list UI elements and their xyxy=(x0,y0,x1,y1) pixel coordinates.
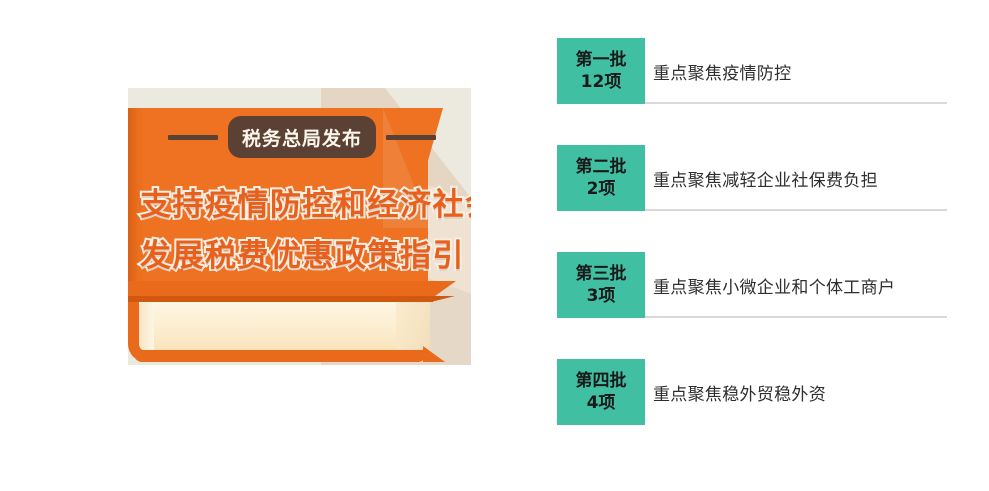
decorative-dash-right xyxy=(386,135,436,140)
book-board-top-shadow-slant xyxy=(431,296,455,302)
poster-headline-line-1: 支持疫情防控和经济社会 xyxy=(140,179,460,224)
row-divider xyxy=(645,209,947,211)
issuer-banner: 税务总局发布 xyxy=(228,116,376,158)
list-item[interactable]: 第四批 4项 重点聚焦稳外贸稳外资 xyxy=(557,359,957,466)
batch-name: 第三批 xyxy=(576,263,627,285)
list-item[interactable]: 第一批 12项 重点聚焦疫情防控 xyxy=(557,38,957,145)
decorative-dash-left xyxy=(168,135,218,140)
batch-description: 重点聚焦小微企业和个体工商户 xyxy=(653,273,895,298)
batch-name: 第二批 xyxy=(576,156,627,178)
issuer-banner-label: 税务总局发布 xyxy=(242,124,362,151)
list-item[interactable]: 第二批 2项 重点聚焦减轻企业社保费负担 xyxy=(557,145,957,252)
list-item[interactable]: 第三批 3项 重点聚焦小微企业和个体工商户 xyxy=(557,252,957,359)
row-divider xyxy=(645,102,947,104)
batch-name: 第四批 xyxy=(576,370,627,392)
poster-headline-line-2: 发展税费优惠政策指引 xyxy=(140,230,460,275)
book-board-bottom-slant xyxy=(423,346,445,362)
policy-batch-list: 第一批 12项 重点聚焦疫情防控 第二批 2项 重点聚焦减轻企业社保费负担 第三… xyxy=(557,38,957,466)
batch-badge: 第三批 3项 xyxy=(557,252,645,318)
row-divider xyxy=(645,316,947,318)
batch-count: 3项 xyxy=(587,285,616,307)
batch-badge: 第二批 2项 xyxy=(557,145,645,211)
book-board-bottom xyxy=(134,350,426,362)
batch-badge: 第一批 12项 xyxy=(557,38,645,104)
batch-name: 第一批 xyxy=(576,49,627,71)
policy-guide-poster: 税务总局发布 支持疫情防控和经济社会 发展税费优惠政策指引 xyxy=(128,88,471,365)
batch-badge: 第四批 4项 xyxy=(557,359,645,425)
batch-count: 4项 xyxy=(587,392,616,414)
batch-count: 12项 xyxy=(581,71,622,93)
batch-description: 重点聚焦减轻企业社保费负担 xyxy=(653,166,878,191)
batch-count: 2项 xyxy=(587,178,616,200)
batch-description: 重点聚焦稳外贸稳外资 xyxy=(653,380,826,405)
book-cover-left-curve xyxy=(128,302,148,362)
batch-description: 重点聚焦疫情防控 xyxy=(653,59,791,84)
